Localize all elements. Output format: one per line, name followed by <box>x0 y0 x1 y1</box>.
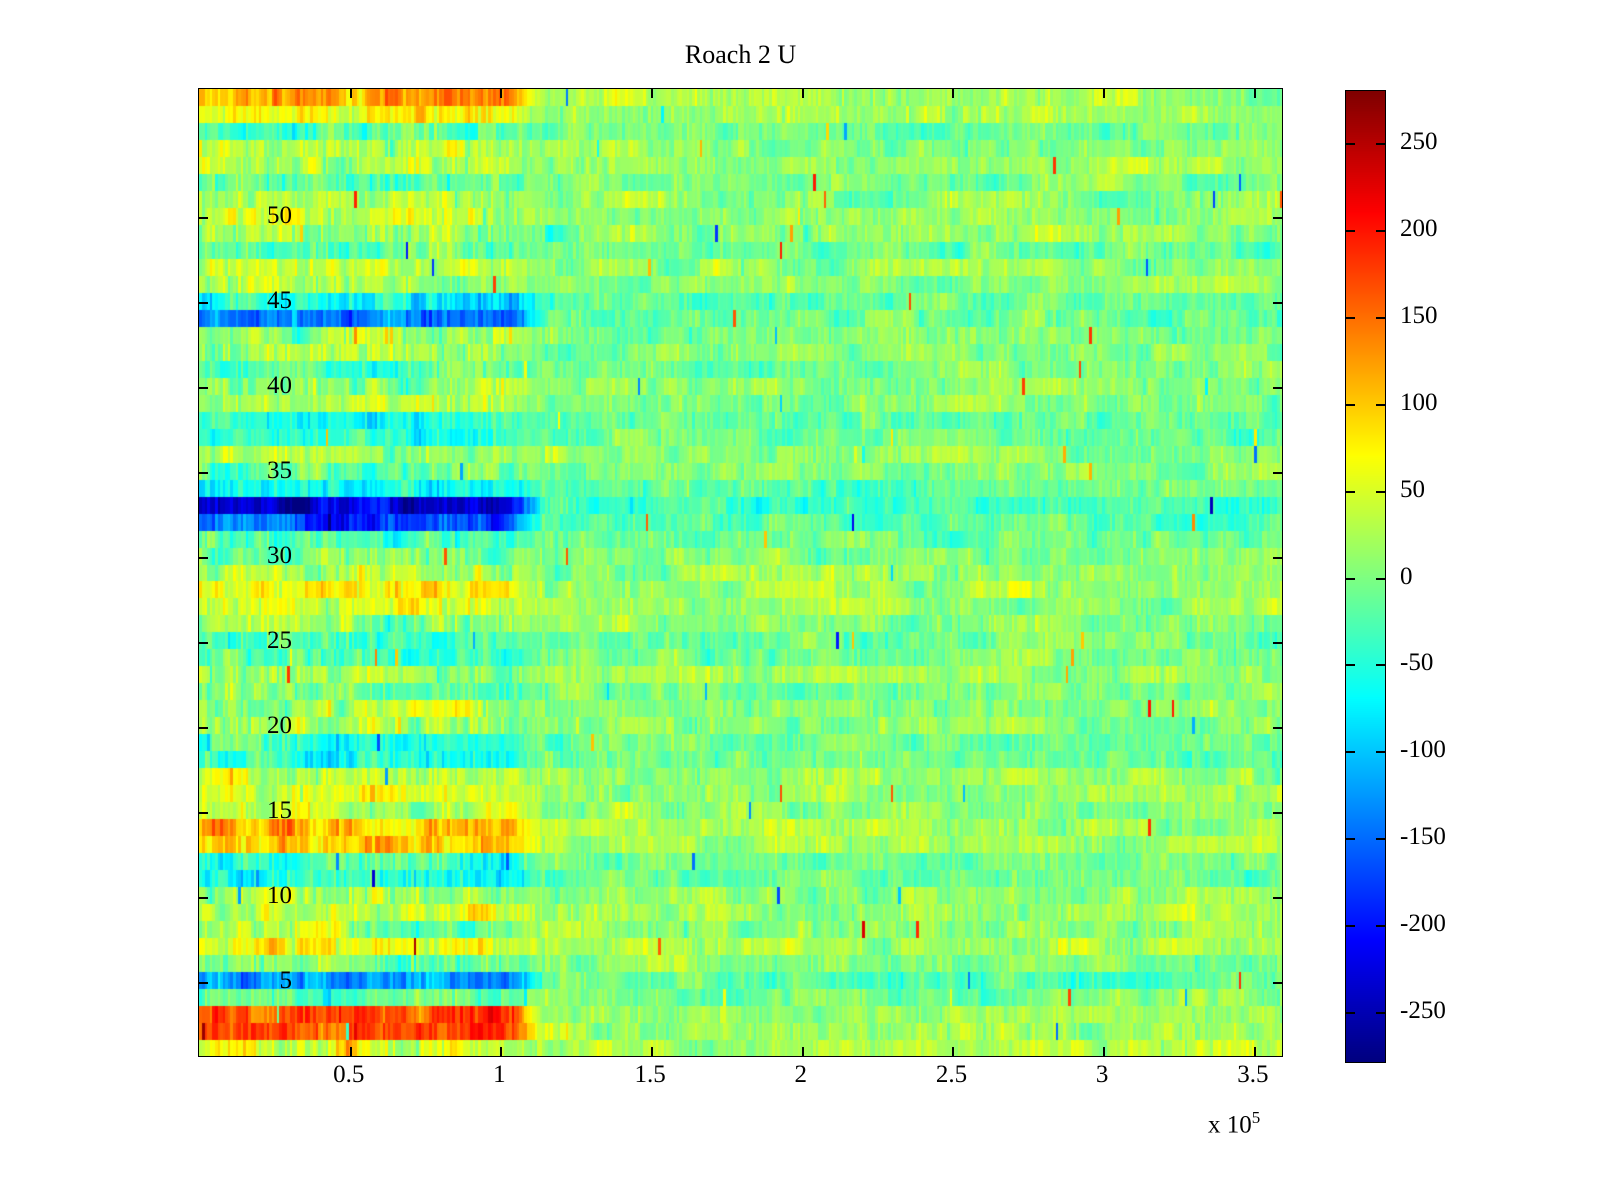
colorbar-tick-label: 150 <box>1400 303 1438 328</box>
colorbar-tick-mark-right <box>1376 578 1385 580</box>
colorbar-tick-mark-right <box>1376 491 1385 493</box>
page-title: Roach 2 U <box>198 40 1283 70</box>
x-exponent-mantissa: x 10 <box>1208 1111 1252 1138</box>
y-tick-mark-right <box>1273 727 1282 729</box>
y-tick-label: 45 <box>172 288 292 313</box>
y-tick-mark-right <box>1273 302 1282 304</box>
colorbar-tick-mark <box>1346 578 1355 580</box>
colorbar-tick-mark <box>1346 1012 1355 1014</box>
x-tick-label: 3 <box>1042 1062 1162 1087</box>
y-tick-mark-right <box>1273 387 1282 389</box>
colorbar-tick-label: -250 <box>1400 998 1446 1023</box>
heatmap-image <box>199 89 1282 1056</box>
colorbar-tick-label: 50 <box>1400 477 1425 502</box>
colorbar-tick-label: -200 <box>1400 911 1446 936</box>
colorbar-tick-mark <box>1346 751 1355 753</box>
colorbar-tick-mark <box>1346 317 1355 319</box>
x-tick-mark-top <box>1254 89 1256 98</box>
y-tick-label: 5 <box>172 968 292 993</box>
colorbar[interactable] <box>1345 90 1386 1063</box>
y-tick-label: 15 <box>172 798 292 823</box>
x-tick-mark-top <box>651 89 653 98</box>
colorbar-tick-mark-right <box>1376 143 1385 145</box>
colorbar-tick-mark-right <box>1376 664 1385 666</box>
x-tick-label: 3.5 <box>1193 1062 1313 1087</box>
colorbar-tick-mark-right <box>1376 925 1385 927</box>
colorbar-tick-label: -150 <box>1400 824 1446 849</box>
y-tick-label: 20 <box>172 713 292 738</box>
colorbar-tick-mark <box>1346 925 1355 927</box>
colorbar-tick-mark <box>1346 404 1355 406</box>
x-tick-label: 0.5 <box>289 1062 409 1087</box>
y-tick-mark-right <box>1273 897 1282 899</box>
x-tick-label: 2 <box>741 1062 861 1087</box>
y-tick-label: 35 <box>172 458 292 483</box>
colorbar-tick-label: 0 <box>1400 564 1413 589</box>
x-tick-mark <box>1254 1047 1256 1056</box>
colorbar-tick-label: 250 <box>1400 129 1438 154</box>
x-tick-label: 2.5 <box>891 1062 1011 1087</box>
y-tick-label: 30 <box>172 543 292 568</box>
x-axis-exponent-label: x 105 <box>1208 1104 1260 1139</box>
colorbar-tick-mark-right <box>1376 404 1385 406</box>
colorbar-tick-mark-right <box>1376 838 1385 840</box>
x-exponent-power: 5 <box>1252 1108 1261 1127</box>
x-tick-mark-top <box>952 89 954 98</box>
colorbar-tick-mark <box>1346 491 1355 493</box>
figure-canvas: Roach 2 U 5101520253035404550 0.511.522.… <box>0 0 1600 1200</box>
x-tick-mark <box>1103 1047 1105 1056</box>
y-tick-mark-right <box>1273 217 1282 219</box>
x-tick-mark-top <box>350 89 352 98</box>
colorbar-tick-mark <box>1346 143 1355 145</box>
x-tick-mark <box>350 1047 352 1056</box>
y-tick-mark-right <box>1273 642 1282 644</box>
y-tick-label: 50 <box>172 203 292 228</box>
colorbar-tick-label: 200 <box>1400 216 1438 241</box>
colorbar-tick-mark <box>1346 838 1355 840</box>
x-tick-mark <box>802 1047 804 1056</box>
colorbar-tick-mark-right <box>1376 751 1385 753</box>
x-tick-mark-top <box>1103 89 1105 98</box>
heatmap-axes[interactable] <box>198 88 1283 1057</box>
y-tick-mark-right <box>1273 472 1282 474</box>
colorbar-tick-mark-right <box>1376 317 1385 319</box>
colorbar-tick-mark-right <box>1376 1012 1385 1014</box>
y-tick-mark-right <box>1273 557 1282 559</box>
x-tick-mark-top <box>802 89 804 98</box>
x-tick-label: 1 <box>439 1062 559 1087</box>
y-tick-mark-right <box>1273 812 1282 814</box>
x-tick-mark-top <box>500 89 502 98</box>
colorbar-gradient <box>1346 91 1385 1062</box>
y-tick-mark-right <box>1273 982 1282 984</box>
colorbar-tick-mark <box>1346 230 1355 232</box>
y-tick-label: 10 <box>172 883 292 908</box>
x-tick-mark <box>651 1047 653 1056</box>
colorbar-tick-label: 100 <box>1400 390 1438 415</box>
x-tick-mark <box>500 1047 502 1056</box>
y-tick-label: 25 <box>172 628 292 653</box>
x-tick-label: 1.5 <box>590 1062 710 1087</box>
y-tick-label: 40 <box>172 373 292 398</box>
colorbar-tick-label: -100 <box>1400 737 1446 762</box>
colorbar-tick-mark <box>1346 664 1355 666</box>
colorbar-tick-mark-right <box>1376 230 1385 232</box>
x-tick-mark <box>952 1047 954 1056</box>
colorbar-tick-label: -50 <box>1400 650 1433 675</box>
